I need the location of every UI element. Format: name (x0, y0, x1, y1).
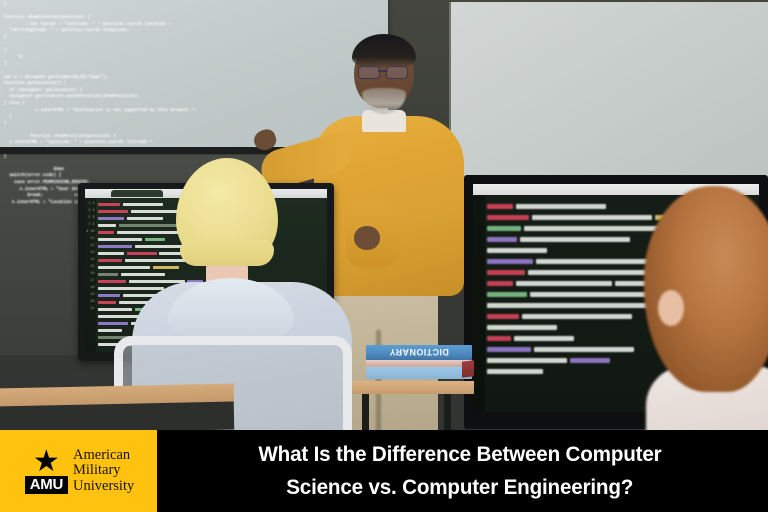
amu-logo-mark: ★ AMU (25, 448, 68, 494)
logo-word-military: Military (73, 463, 134, 479)
amu-logo[interactable]: ★ AMU American Military University (0, 430, 157, 512)
book-red-edge (462, 360, 474, 377)
beanie-brim (180, 240, 274, 266)
student-ear (658, 290, 684, 326)
book-third (366, 367, 472, 379)
book-second (366, 360, 472, 367)
article-title: What Is the Difference Between Computer … (157, 430, 768, 512)
code-line-numbers (473, 195, 485, 412)
article-header-screenshot: 1 2 3 4 5 6 7 8 9 10 11 12 13 14 15 16 1… (0, 0, 768, 512)
article-title-line-2: Science vs. Computer Engineering? (286, 471, 633, 504)
logo-word-university: University (73, 479, 134, 495)
student-right-figure (636, 186, 768, 432)
article-title-line-1: What Is the Difference Between Computer (258, 438, 661, 471)
left-desk-shadow (0, 401, 234, 432)
student-auburn-hair (644, 186, 768, 392)
logo-word-american: American (73, 448, 134, 464)
code-line-numbers: 1 2 3 4 5 6 7 8 9 10 11 12 13 14 15 16 1… (85, 198, 96, 352)
classroom-photo: 1 2 3 4 5 6 7 8 9 10 11 12 13 14 15 16 1… (0, 0, 768, 432)
amu-logo-wordmark: American Military University (73, 448, 134, 495)
book-title: DICTIONARY (372, 347, 466, 357)
whiteboard (449, 2, 768, 182)
book-stack: DICTIONARY (366, 345, 472, 383)
title-banner: ★ AMU American Military University What … (0, 430, 768, 512)
glasses-icon (358, 66, 408, 78)
star-icon: ★ (33, 449, 60, 475)
amu-abbreviation: AMU (25, 476, 68, 494)
dictionary-book: DICTIONARY (366, 345, 472, 360)
instructor-hair (352, 34, 416, 68)
